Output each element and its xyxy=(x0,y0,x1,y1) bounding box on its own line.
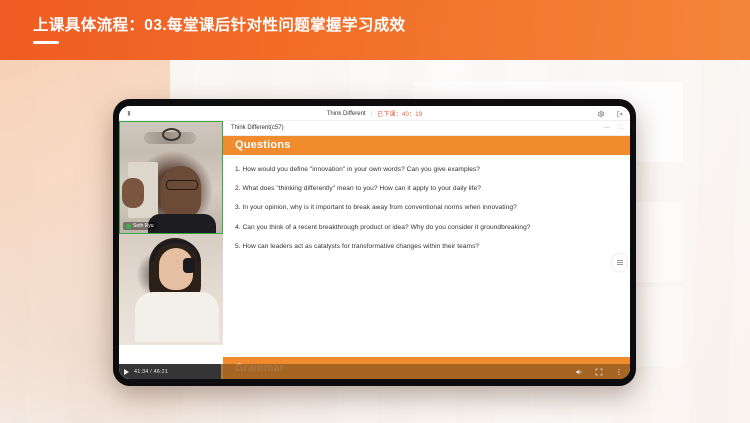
more-vertical-icon[interactable] xyxy=(615,368,623,376)
main-split: Seth Ryu Think Different(c57) — xyxy=(119,121,630,379)
page-title: 上课具体流程：03.每堂课后针对性问题掌握学习成效 xyxy=(33,13,406,35)
minimize-icon[interactable]: — xyxy=(604,125,610,131)
fullscreen-icon[interactable] xyxy=(595,368,603,376)
teacher-torso xyxy=(148,214,216,234)
app-top-bar: ▮ Think Different | 已下课：40：19 xyxy=(119,106,630,121)
courseware-pane: Think Different(c57) — ⛶ Questions 1. Ho… xyxy=(223,121,630,379)
ceiling-fan xyxy=(144,132,196,144)
list-item: 2. What does "thinking differently" mean… xyxy=(235,183,614,195)
play-icon[interactable] xyxy=(124,369,129,375)
tablet-device-frame: ▮ Think Different | 已下课：40：19 xyxy=(113,99,636,386)
teacher-video-tile[interactable]: Seth Ryu xyxy=(119,121,223,234)
video-player-controls: 41:34 / 46:21 xyxy=(119,364,630,379)
courseware-document: Questions 1. How would you define "innov… xyxy=(223,136,630,379)
class-timer: 已下课：40：19 xyxy=(377,109,422,118)
slide-header: 上课具体流程：03.每堂课后针对性问题掌握学习成效 xyxy=(0,0,750,60)
list-item: 5. How can leaders act as catalysts for … xyxy=(235,241,614,253)
list-icon[interactable] xyxy=(613,254,626,271)
list-item: 1. How would you define "innovation" in … xyxy=(235,164,614,176)
player-actions xyxy=(575,368,623,376)
teacher-name: Seth Ryu xyxy=(133,223,154,229)
tab-think-different[interactable]: Think Different(c57) xyxy=(231,125,284,131)
teacher-face xyxy=(161,166,201,218)
teacher-hand xyxy=(122,178,144,208)
class-title: Think Different xyxy=(327,111,366,117)
exit-icon[interactable] xyxy=(616,110,624,118)
student-torso xyxy=(135,292,219,342)
student-video-tile[interactable] xyxy=(119,234,223,379)
title-underline xyxy=(33,41,59,44)
list-icon-lines xyxy=(617,259,623,266)
gear-icon[interactable] xyxy=(597,110,605,118)
video-rail: Seth Ryu xyxy=(119,121,223,379)
expand-icon[interactable]: ⛶ xyxy=(619,125,623,131)
questions-list: 1. How would you define "innovation" in … xyxy=(223,155,630,253)
headset-earcup xyxy=(183,258,195,273)
title-separator: | xyxy=(371,111,373,117)
list-item: 3. In your opinion, why is it important … xyxy=(235,202,614,214)
courseware-tabbar: Think Different(c57) — ⛶ xyxy=(223,121,630,136)
section-title-questions: Questions xyxy=(223,136,630,155)
tabbar-actions: — ⛶ xyxy=(604,125,623,131)
app-bar-center: Think Different | 已下课：40：19 xyxy=(119,106,630,121)
list-item: 4. Can you think of a recent breakthroug… xyxy=(235,222,614,234)
playback-time: 41:34 / 46:21 xyxy=(134,369,168,375)
volume-icon[interactable] xyxy=(575,368,583,376)
app-bar-actions xyxy=(597,106,624,121)
teacher-name-chip: Seth Ryu xyxy=(123,222,157,230)
tablet-screen: ▮ Think Different | 已下课：40：19 xyxy=(119,106,630,379)
mic-on-icon xyxy=(126,224,131,229)
